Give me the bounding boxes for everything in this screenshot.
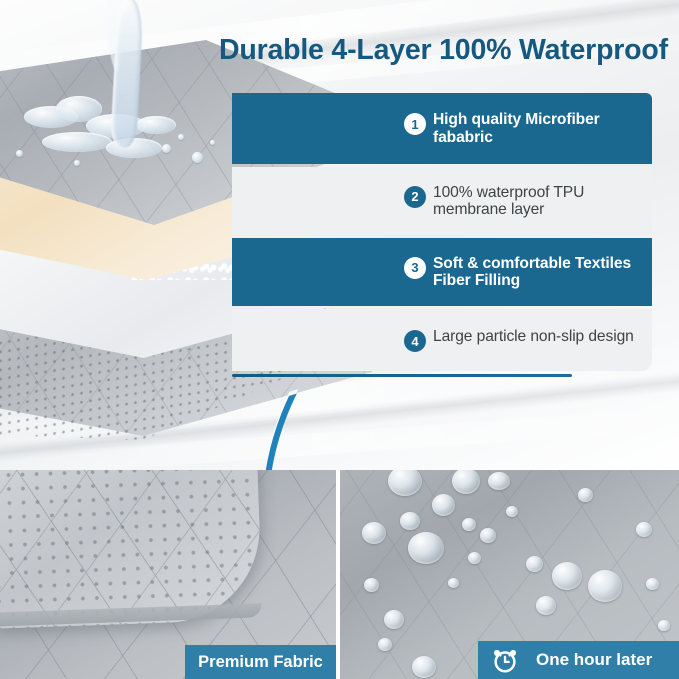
water-droplet	[506, 506, 518, 517]
feature-number-badge: 3	[404, 257, 426, 279]
premium-fabric-label: Premium Fabric	[185, 645, 336, 679]
water-droplet	[462, 518, 476, 531]
feature-text: Soft & comfortable Textiles Fiber Fillin…	[433, 255, 652, 290]
water-droplet	[646, 578, 659, 590]
water-droplet	[588, 570, 622, 602]
water-droplet	[432, 494, 455, 516]
feature-item-3[interactable]: 3 Soft & comfortable Textiles Fiber Fill…	[232, 238, 652, 306]
water-droplet	[578, 488, 593, 502]
water-droplet	[488, 472, 510, 490]
one-hour-later-label-text: One hour later	[536, 650, 652, 670]
water-droplet	[636, 522, 652, 537]
feature-number-badge: 1	[404, 113, 426, 135]
feature-text: High quality Microfiber fababric	[433, 111, 652, 146]
feature-text: 100% waterproof TPU membrane layer	[433, 184, 652, 219]
water-droplet	[480, 528, 496, 543]
water-droplet	[364, 578, 379, 592]
water-droplet	[468, 552, 481, 564]
feature-number-badge: 2	[404, 186, 426, 208]
feature-number-badge: 4	[404, 330, 426, 352]
feature-item-2[interactable]: 2 100% waterproof TPU membrane layer	[232, 167, 652, 235]
water-droplet	[362, 522, 386, 544]
water-droplet	[526, 556, 543, 572]
page-title: Durable 4-Layer 100% Waterproof	[219, 29, 659, 71]
water-droplet	[378, 638, 392, 651]
water-droplet	[448, 578, 459, 588]
infographic-canvas: Durable 4-Layer 100% Waterproof 1 High q…	[0, 0, 679, 679]
water-droplet	[412, 656, 436, 678]
one-hour-later-label: One hour later	[478, 641, 679, 679]
water-droplet	[408, 532, 444, 564]
water-droplet	[658, 620, 670, 631]
alarm-clock-icon	[490, 645, 520, 675]
water-droplet	[536, 596, 556, 615]
premium-fabric-label-text: Premium Fabric	[198, 653, 323, 672]
water-droplet	[384, 610, 404, 629]
feature-item-1[interactable]: 1 High quality Microfiber fababric	[232, 93, 652, 164]
water-droplet	[552, 562, 582, 590]
water-droplet	[400, 512, 420, 530]
